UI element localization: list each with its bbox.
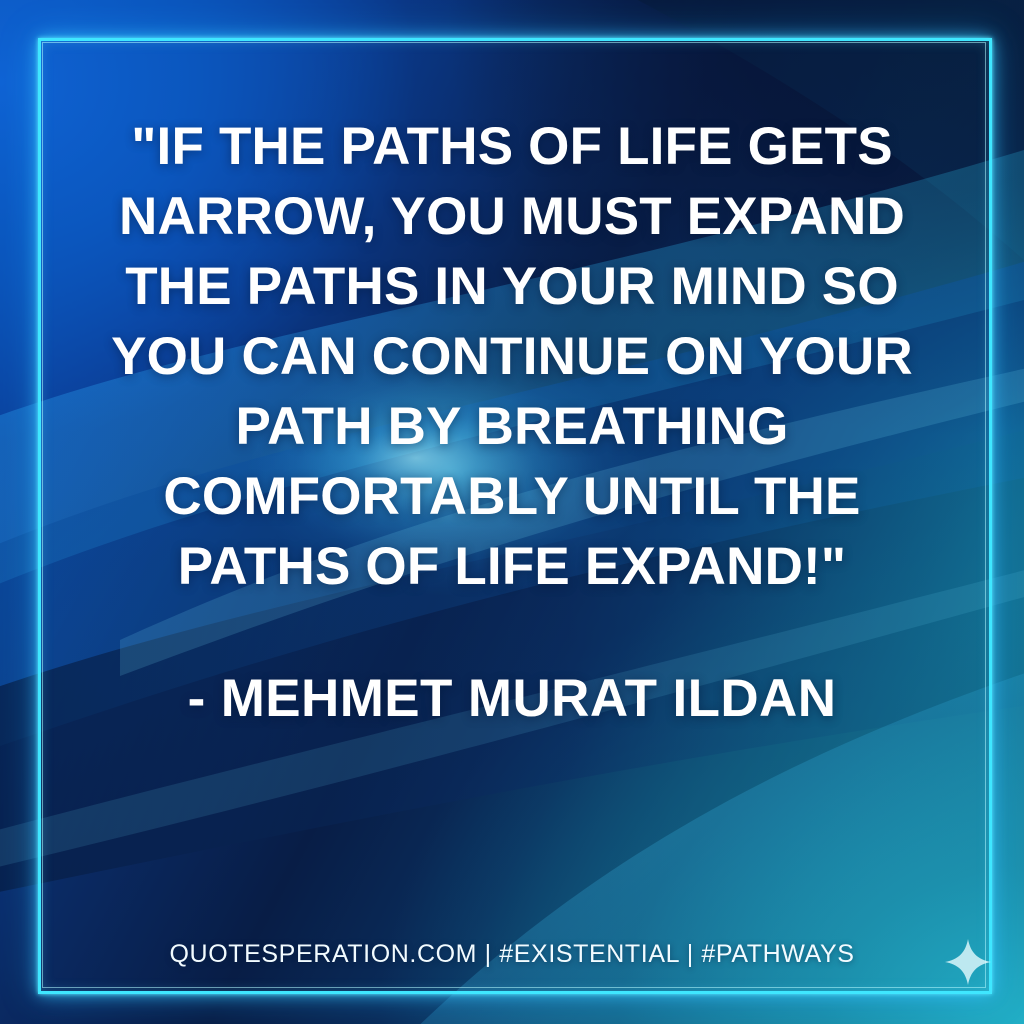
quote-line: PATHS OF LIFE EXPAND!" (72, 532, 952, 602)
footer-credit-line: QUOTESPERATION.COM | #EXISTENTIAL | #PAT… (170, 940, 855, 969)
quote-line: YOU CAN CONTINUE ON YOUR (72, 322, 952, 392)
quote-line: "IF THE PATHS OF LIFE GETS (72, 112, 952, 182)
quote-line: NARROW, YOU MUST EXPAND (72, 182, 952, 252)
quote-block: "IF THE PATHS OF LIFE GETS NARROW, YOU M… (72, 112, 952, 734)
quote-attribution: - MEHMET MURAT ILDAN (72, 664, 952, 734)
footer: QUOTESPERATION.COM | #EXISTENTIAL | #PAT… (72, 940, 952, 969)
sparkle-icon (944, 938, 992, 986)
content-area: "IF THE PATHS OF LIFE GETS NARROW, YOU M… (0, 0, 1024, 1024)
quote-line: THE PATHS IN YOUR MIND SO (72, 252, 952, 322)
quote-line: COMFORTABLY UNTIL THE (72, 462, 952, 532)
quote-line: PATH BY BREATHING (72, 392, 952, 462)
quote-card: "IF THE PATHS OF LIFE GETS NARROW, YOU M… (0, 0, 1024, 1024)
